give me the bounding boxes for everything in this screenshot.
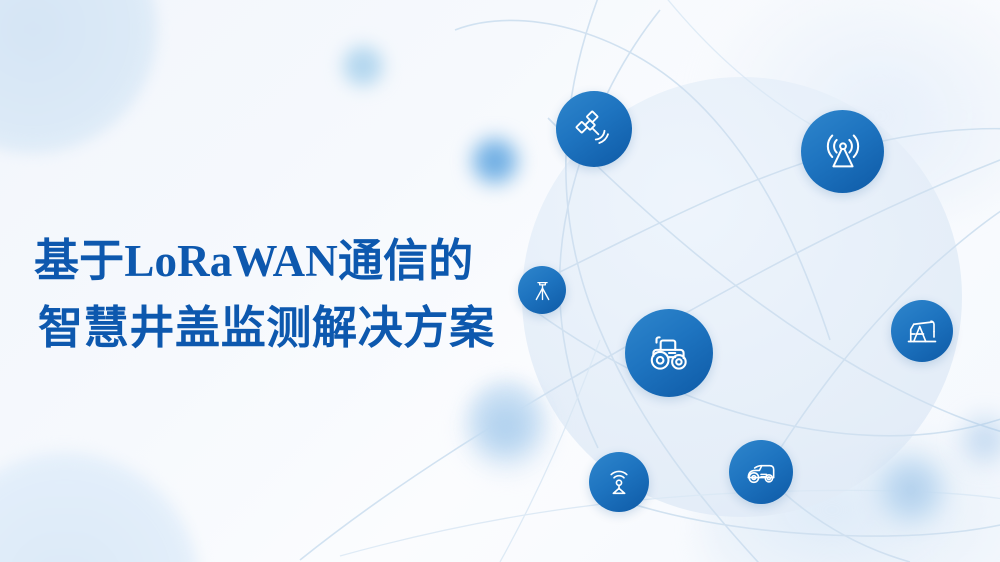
- presentation-slide: 基于LoRaWAN通信的 智慧井盖监测解决方案: [0, 0, 1000, 562]
- wireless-sensor-node[interactable]: [589, 452, 649, 512]
- tractor-node[interactable]: [625, 309, 713, 397]
- tractor-icon: [644, 328, 694, 378]
- survey-tripod-node[interactable]: [518, 266, 566, 314]
- survey-tripod-icon: [529, 277, 556, 304]
- slide-title: 基于LoRaWAN通信的 智慧井盖监测解决方案: [34, 228, 495, 361]
- broadcast-tower-icon: [820, 129, 866, 175]
- wireless-sensor-icon: [602, 465, 636, 499]
- lawn-mower-icon: [742, 453, 780, 491]
- satellite-icon: [573, 108, 615, 150]
- satellite-node[interactable]: [556, 91, 632, 167]
- broadcast-tower-node[interactable]: [801, 110, 884, 193]
- oil-pumpjack-node[interactable]: [891, 300, 953, 362]
- title-line-2: 智慧井盖监测解决方案: [34, 295, 495, 362]
- oil-pumpjack-icon: [904, 313, 940, 349]
- lawn-mower-node[interactable]: [729, 440, 793, 504]
- title-line-1: 基于LoRaWAN通信的: [34, 228, 495, 295]
